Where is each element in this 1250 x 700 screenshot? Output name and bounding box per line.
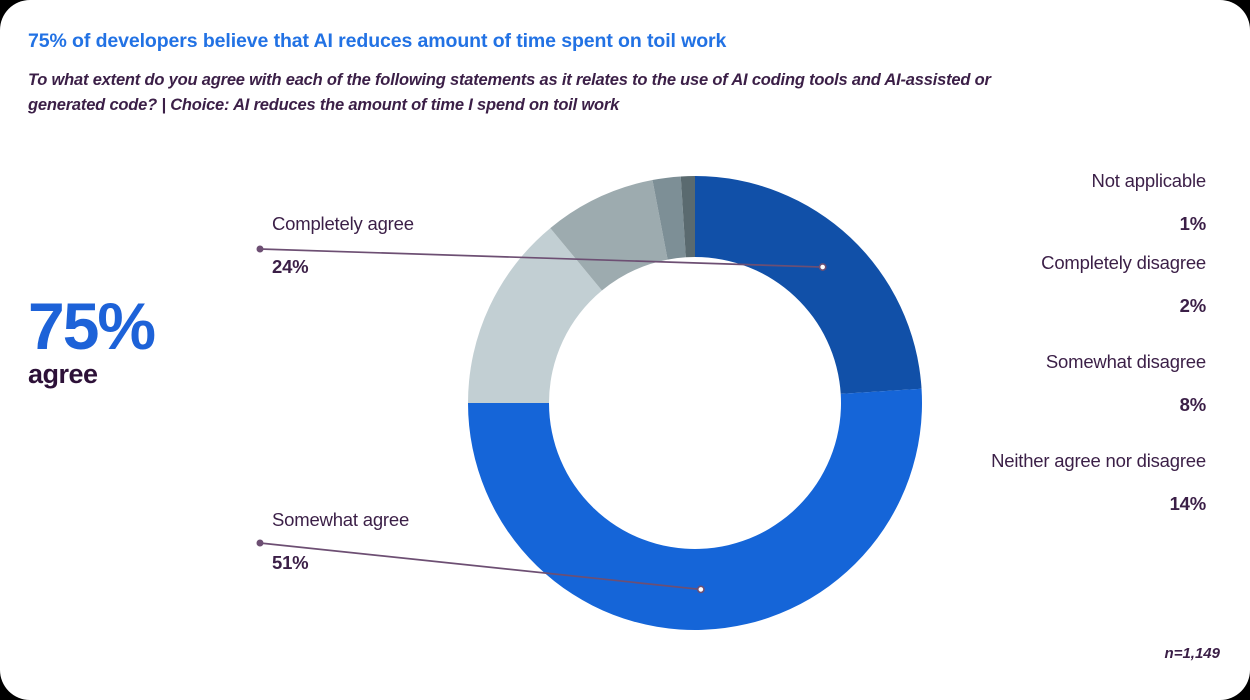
leader-anchor-open bbox=[820, 264, 826, 270]
callout-completely-disagree: Completely disagree 2% bbox=[1041, 252, 1206, 317]
callout-label: Not applicable bbox=[1092, 170, 1206, 192]
callout-value: 2% bbox=[1041, 295, 1206, 317]
callout-label: Completely disagree bbox=[1041, 252, 1206, 274]
callout-value: 8% bbox=[1046, 394, 1206, 416]
sample-size-note: n=1,149 bbox=[1165, 645, 1220, 662]
callout-value: 14% bbox=[991, 493, 1206, 515]
leader-anchor-dot bbox=[257, 246, 262, 251]
leader-anchor-dot bbox=[257, 540, 262, 545]
callout-value: 24% bbox=[272, 256, 414, 278]
callout-not-applicable: Not applicable 1% bbox=[1092, 170, 1206, 235]
callout-somewhat-agree: Somewhat agree 51% bbox=[272, 509, 409, 574]
callout-neither-agree-nor-disagree: Neither agree nor disagree 14% bbox=[991, 450, 1206, 515]
donut-slice bbox=[695, 176, 922, 394]
callout-value: 1% bbox=[1092, 213, 1206, 235]
callout-value: 51% bbox=[272, 552, 409, 574]
callout-completely-agree: Completely agree 24% bbox=[272, 213, 414, 278]
infographic-card: 75% of developers believe that AI reduce… bbox=[0, 0, 1250, 700]
donut-slice bbox=[468, 389, 922, 630]
callout-label: Somewhat agree bbox=[272, 509, 409, 531]
leader-anchor-open bbox=[698, 586, 704, 592]
callout-somewhat-disagree: Somewhat disagree 8% bbox=[1046, 351, 1206, 416]
callout-label: Neither agree nor disagree bbox=[991, 450, 1206, 472]
callout-label: Somewhat disagree bbox=[1046, 351, 1206, 373]
callout-label: Completely agree bbox=[272, 213, 414, 235]
donut-chart bbox=[0, 0, 1250, 700]
donut-slices bbox=[468, 176, 922, 630]
